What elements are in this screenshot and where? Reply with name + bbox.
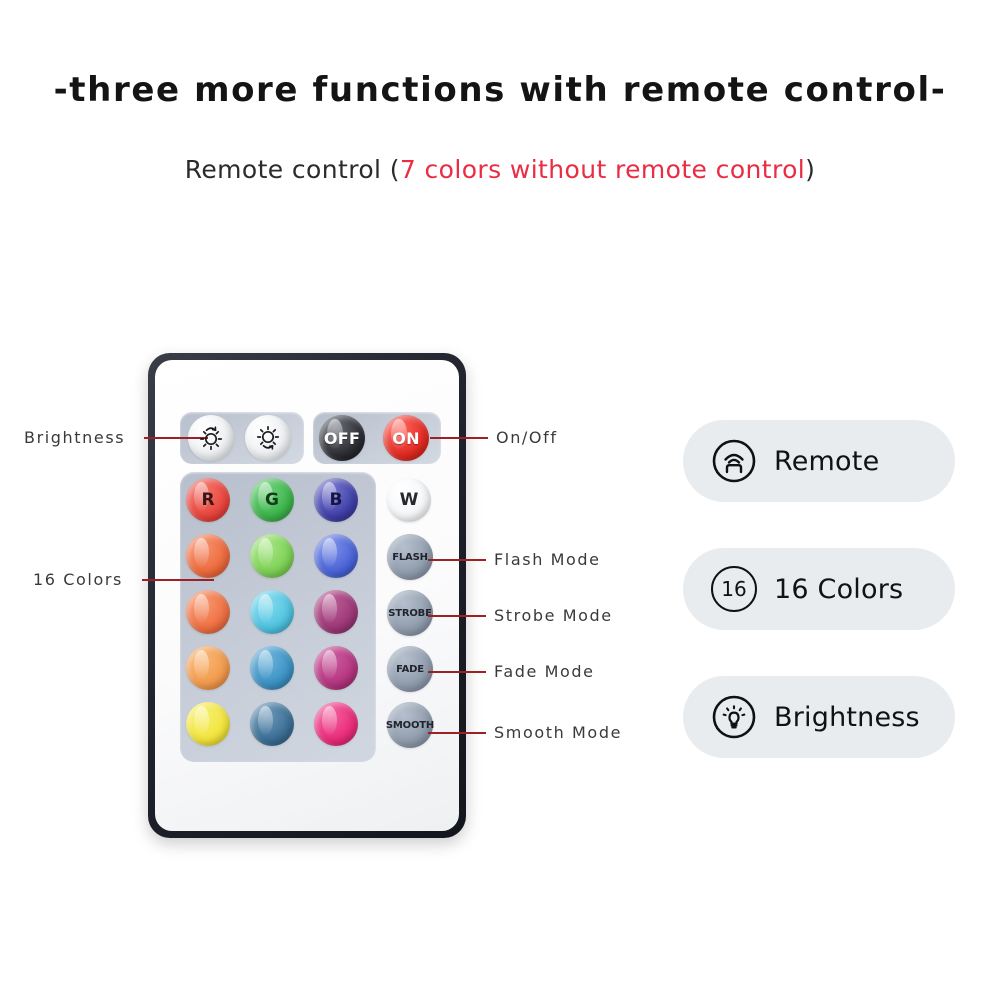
color-button-b[interactable]: B [314, 478, 358, 522]
feature-card-16-colors-label: 16 Colors [774, 574, 903, 605]
button-gloss [322, 538, 337, 567]
number-badge-value: 16 [711, 566, 757, 612]
brightness-down-button[interactable] [245, 415, 291, 461]
button-gloss [194, 594, 209, 623]
annotation-on-off: On/Off [496, 428, 558, 447]
sun-up-icon [196, 423, 226, 453]
off-button[interactable]: OFF [319, 415, 365, 461]
color-swatch-r3c3[interactable] [314, 590, 358, 634]
color-button-b-label: B [330, 490, 343, 510]
annotation-fade-mode: Fade Mode [494, 662, 595, 681]
leader-line-fade [428, 671, 486, 673]
button-gloss [322, 650, 337, 679]
remote-faceplate: OFF ON R G B W [155, 360, 459, 831]
color-swatch-r4c2[interactable] [250, 646, 294, 690]
feature-card-remote-label: Remote [774, 446, 879, 477]
leader-line-flash [428, 559, 486, 561]
off-button-label: OFF [324, 429, 360, 448]
color-swatch-r5c2[interactable] [250, 702, 294, 746]
leader-line-smooth [428, 732, 486, 734]
flash-button-label: FLASH [392, 552, 428, 563]
page-title: -three more functions with remote contro… [0, 70, 1000, 110]
color-swatch-r5c3[interactable] [314, 702, 358, 746]
feature-card-remote[interactable]: Remote [683, 420, 955, 502]
page-subtitle: Remote control (7 colors without remote … [0, 155, 1000, 184]
button-gloss [258, 650, 273, 679]
button-gloss [258, 538, 273, 567]
color-button-g[interactable]: G [250, 478, 294, 522]
subtitle-accent: 7 colors without remote control [400, 155, 805, 184]
color-button-w[interactable]: W [387, 478, 431, 522]
button-gloss [322, 706, 337, 735]
color-button-w-label: W [400, 490, 419, 510]
feature-card-brightness-label: Brightness [774, 702, 920, 733]
subtitle-tail: ) [805, 155, 815, 184]
button-gloss [258, 594, 273, 623]
button-gloss [258, 706, 273, 735]
button-gloss [194, 650, 209, 679]
button-gloss [194, 538, 209, 567]
color-swatch-r4c1[interactable] [186, 646, 230, 690]
fade-button-label: FADE [396, 664, 424, 675]
color-swatch-r2c1[interactable] [186, 534, 230, 578]
remote-signal-icon [711, 438, 757, 484]
button-gloss [194, 706, 209, 735]
color-button-g-label: G [265, 490, 279, 510]
annotation-16-colors: 16 Colors [33, 570, 123, 589]
leader-line-strobe [428, 615, 486, 617]
fade-button[interactable]: FADE [387, 646, 433, 692]
smooth-button-label: SMOOTH [386, 720, 434, 731]
color-swatch-r3c2[interactable] [250, 590, 294, 634]
leader-line-on-off [430, 437, 488, 439]
color-button-r-label: R [201, 490, 214, 510]
number-badge-icon: 16 [711, 566, 757, 612]
color-button-r[interactable]: R [186, 478, 230, 522]
subtitle-plain: Remote control ( [185, 155, 400, 184]
color-swatch-r2c3[interactable] [314, 534, 358, 578]
button-gloss [322, 594, 337, 623]
feature-card-brightness[interactable]: Brightness [683, 676, 955, 758]
sun-down-icon [253, 423, 283, 453]
remote-control-device: OFF ON R G B W [148, 353, 466, 838]
flash-button[interactable]: FLASH [387, 534, 433, 580]
leader-line-16-colors [142, 579, 214, 581]
on-button-label: ON [392, 429, 420, 448]
brightness-bulb-icon [711, 694, 757, 740]
strobe-button-label: STROBE [388, 608, 431, 619]
annotation-smooth-mode: Smooth Mode [494, 723, 622, 742]
feature-card-16-colors[interactable]: 16 16 Colors [683, 548, 955, 630]
on-button[interactable]: ON [383, 415, 429, 461]
smooth-button[interactable]: SMOOTH [387, 702, 433, 748]
color-swatch-r4c3[interactable] [314, 646, 358, 690]
annotation-strobe-mode: Strobe Mode [494, 606, 613, 625]
color-swatch-r2c2[interactable] [250, 534, 294, 578]
annotation-brightness: Brightness [24, 428, 125, 447]
strobe-button[interactable]: STROBE [387, 590, 433, 636]
annotation-flash-mode: Flash Mode [494, 550, 601, 569]
color-swatch-r3c1[interactable] [186, 590, 230, 634]
color-swatch-r5c1[interactable] [186, 702, 230, 746]
